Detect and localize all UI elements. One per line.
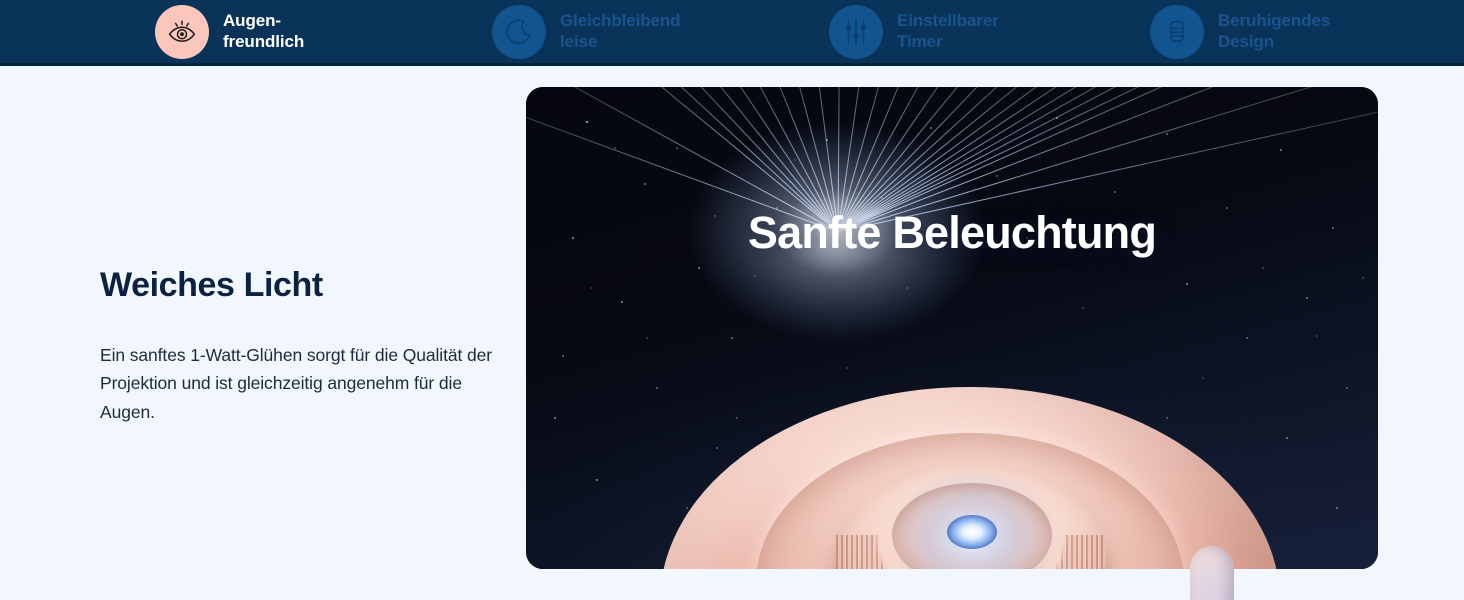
eye-icon xyxy=(155,5,209,59)
page-description: Ein sanftes 1-Watt-Glühen sorgt für die … xyxy=(100,341,500,426)
nav-item-gleichbleibend-leise[interactable]: Gleichbleibend leise xyxy=(492,0,680,63)
nav-item-einstellbarer-timer[interactable]: Einstellbarer Timer xyxy=(829,0,999,63)
nav-item-beruhigendes-design[interactable]: Beruhigendes Design xyxy=(1150,0,1330,63)
layers-lamp-icon xyxy=(1150,5,1204,59)
sliders-icon xyxy=(829,5,883,59)
hero-image: Sanfte Beleuchtung xyxy=(526,87,1378,569)
dome-side-button xyxy=(1190,546,1234,600)
nav-item-label: Augen- freundlich xyxy=(223,11,304,52)
nav-item-label: Einstellbarer Timer xyxy=(897,11,999,52)
page-title: Weiches Licht xyxy=(100,266,500,305)
copy-block: Weiches Licht Ein sanftes 1-Watt-Glühen … xyxy=(100,266,500,426)
nav-item-label: Gleichbleibend leise xyxy=(560,11,680,52)
projector-lens xyxy=(947,515,997,549)
feature-nav-bar: Augen- freundlich Gleichbleibend leise xyxy=(0,0,1464,66)
hero-title: Sanfte Beleuchtung xyxy=(526,207,1378,259)
moon-icon xyxy=(492,5,546,59)
nav-item-label: Beruhigendes Design xyxy=(1218,11,1330,52)
main-content: Weiches Licht Ein sanftes 1-Watt-Glühen … xyxy=(0,66,1464,600)
nav-item-augenfreundlich[interactable]: Augen- freundlich xyxy=(155,0,304,63)
